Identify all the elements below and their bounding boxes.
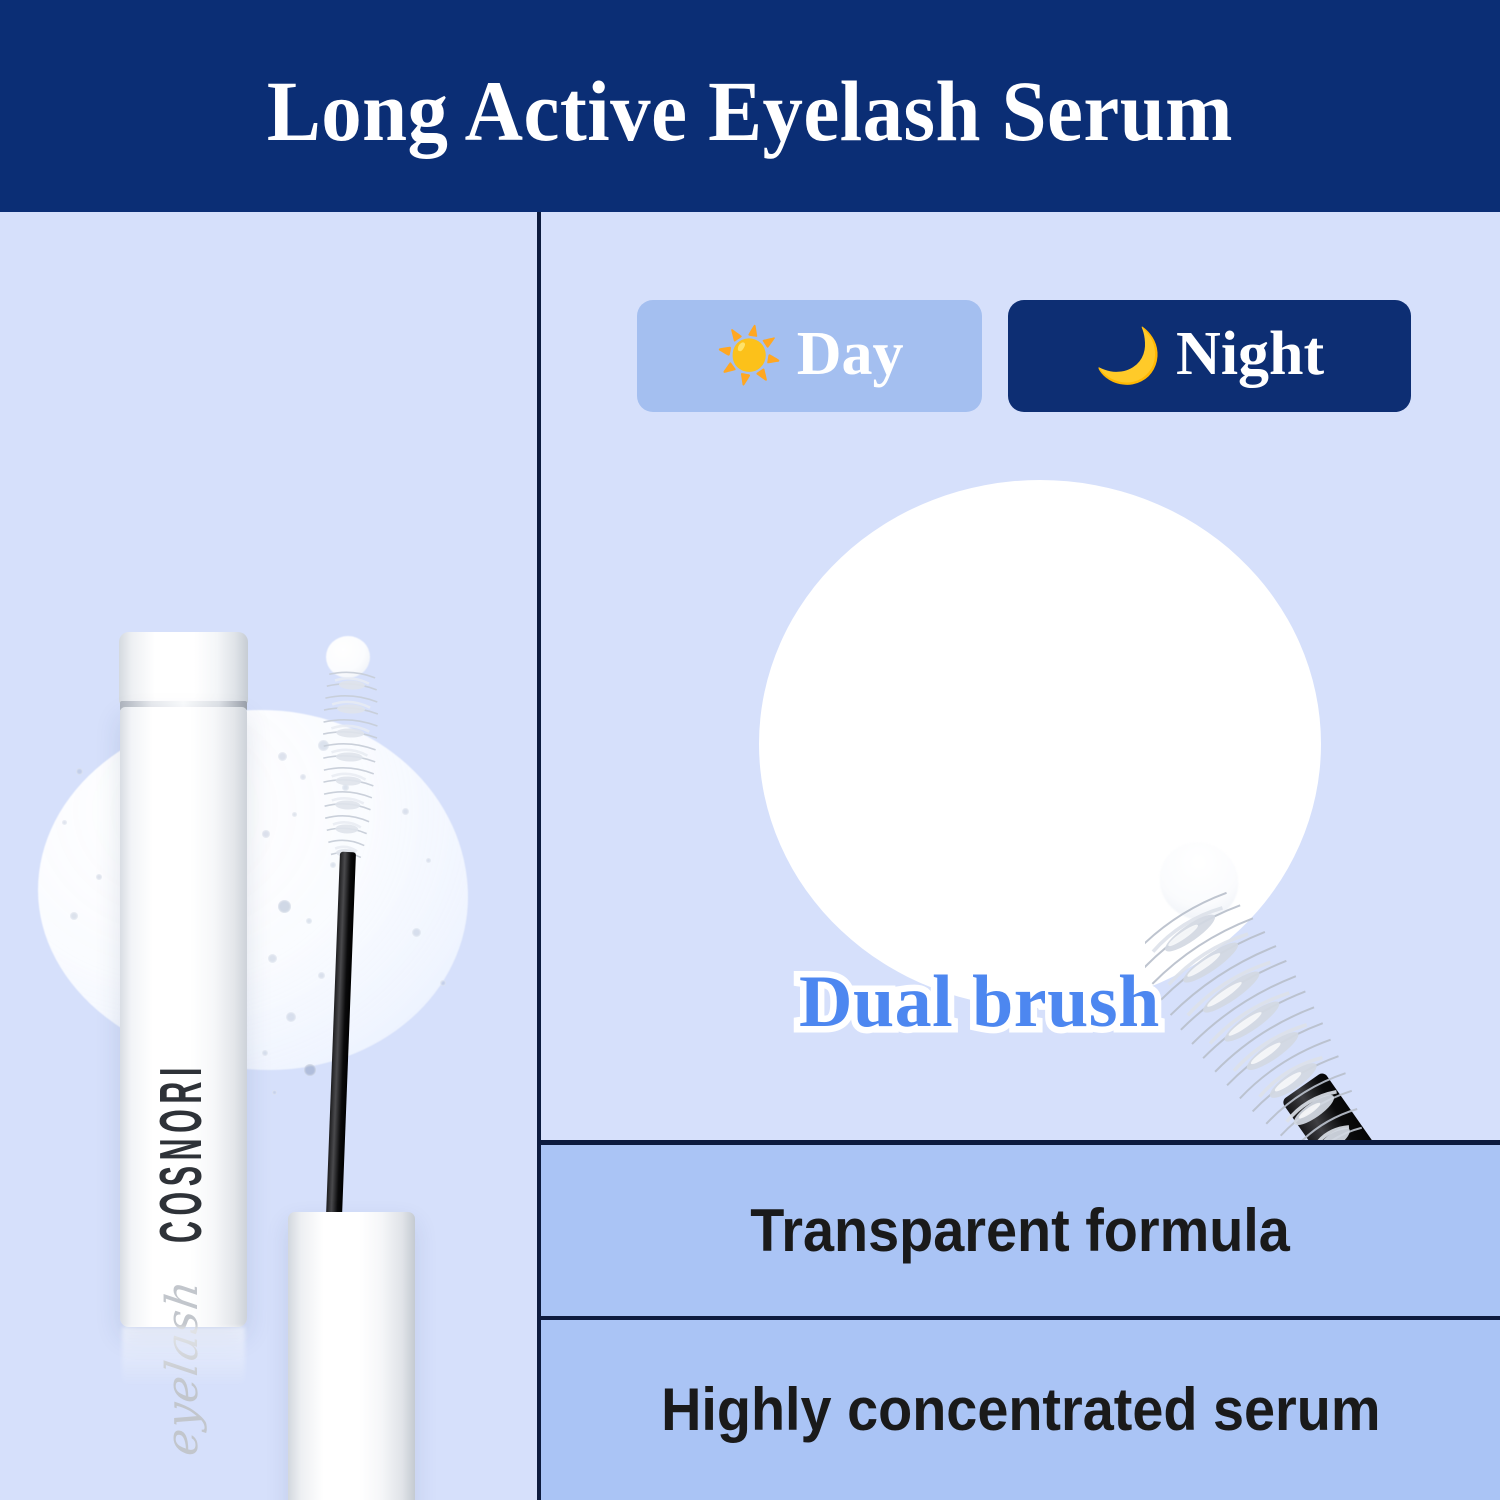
feature-item-concentrated-serum: Highly concentrated serum: [541, 1320, 1500, 1500]
night-mode-button[interactable]: 🌙 Night: [1008, 300, 1411, 412]
dual-brush-callout: Dual brush: [799, 965, 1160, 1039]
product-marketing-image: Long Active Eyelash Serum: [0, 0, 1500, 1500]
day-mode-label: Day: [797, 323, 904, 389]
gel-texture-blob: [38, 710, 468, 1070]
feature-label: Highly concentrated serum: [661, 1380, 1380, 1440]
feature-item-transparent-formula: Transparent formula: [541, 1145, 1500, 1316]
header-banner: Long Active Eyelash Serum: [0, 0, 1500, 212]
bottle-cap-standalone: [288, 1212, 415, 1500]
brush-bristles: [1145, 883, 1375, 1140]
day-mode-button[interactable]: ☀️ Day: [637, 300, 982, 412]
wand-bristle-svg: [315, 666, 384, 868]
page-title: Long Active Eyelash Serum: [267, 58, 1233, 154]
brush-bristle-svg: [1145, 883, 1375, 1140]
product-photo-panel: COSNORI eyelash: [0, 212, 537, 1500]
wand-bristles: [315, 666, 384, 868]
bottle-cap-upper: [119, 632, 248, 704]
brand-name: COSNORI: [150, 1061, 217, 1242]
night-mode-label: Night: [1176, 323, 1324, 389]
day-night-toggle[interactable]: ☀️ Day 🌙 Night: [637, 300, 1411, 412]
feature-label: Transparent formula: [751, 1201, 1291, 1261]
brand-name-wrapper: COSNORI: [118, 1002, 248, 1302]
bottle-reflection: [122, 1327, 245, 1387]
crescent-moon-icon: 🌙: [1095, 329, 1162, 383]
sun-icon: ☀️: [715, 329, 782, 383]
feature-panel: ☀️ Day 🌙 Night: [541, 212, 1500, 1140]
